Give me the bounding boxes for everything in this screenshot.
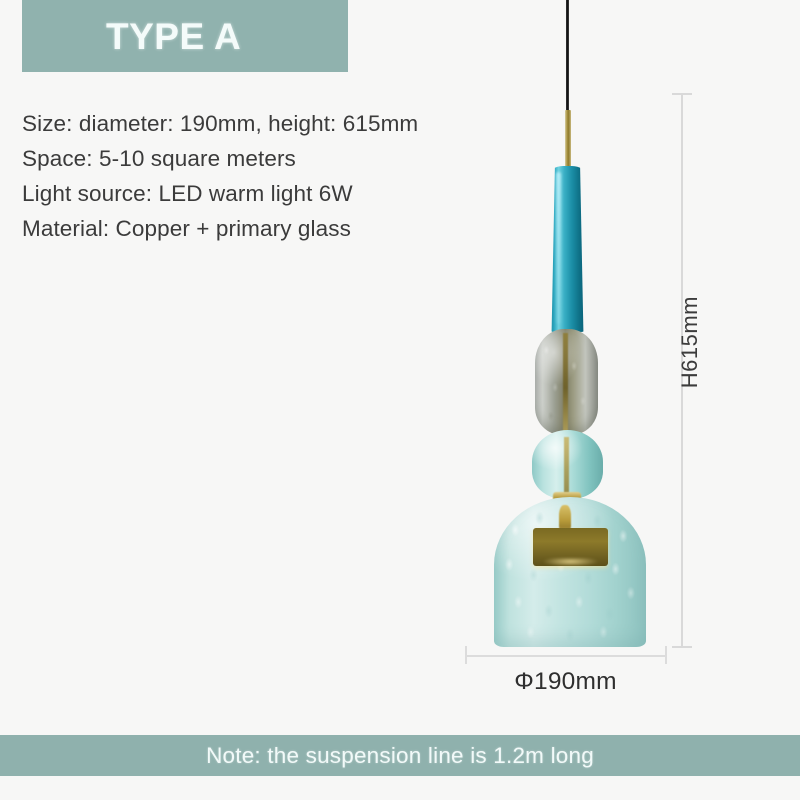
note-bar: Note: the suspension line is 1.2m long	[0, 735, 800, 776]
spec-line-light-source: Light source: LED warm light 6W	[22, 176, 582, 211]
socket-glow	[531, 558, 610, 570]
shade-hammered-texture	[494, 497, 646, 647]
spec-line-space: Space: 5-10 square meters	[22, 141, 582, 176]
brass-collar	[553, 492, 581, 503]
socket-stem	[559, 505, 571, 531]
bell-glass-shade	[494, 497, 646, 647]
diameter-dimension-label: Φ190mm	[465, 668, 666, 696]
suspension-cord	[566, 0, 569, 112]
lamp-socket	[533, 528, 608, 566]
note-bar-label: Note: the suspension line is 1.2m long	[206, 743, 594, 769]
diameter-dimension-line	[465, 655, 666, 657]
product-spec-page: TYPE A Size: diameter: 190mm, height: 61…	[0, 0, 800, 800]
height-dimension-tick-bottom	[672, 646, 692, 648]
capsule-inner-rod	[563, 333, 568, 433]
aqua-glass-bulb	[532, 430, 603, 499]
spec-line-size: Size: diameter: 190mm, height: 615mm	[22, 106, 582, 141]
smoky-glass-capsule	[535, 329, 598, 435]
type-banner: TYPE A	[22, 0, 348, 72]
spec-line-material: Material: Copper + primary glass	[22, 211, 582, 246]
specification-list: Size: diameter: 190mm, height: 615mm Spa…	[22, 106, 582, 246]
smoky-capsule-texture	[535, 329, 598, 435]
diameter-dimension-tick-right	[665, 646, 667, 664]
height-dimension-label: H615mm	[677, 296, 703, 388]
bulb-inner-rod	[564, 437, 569, 493]
type-banner-label: TYPE A	[106, 18, 241, 55]
